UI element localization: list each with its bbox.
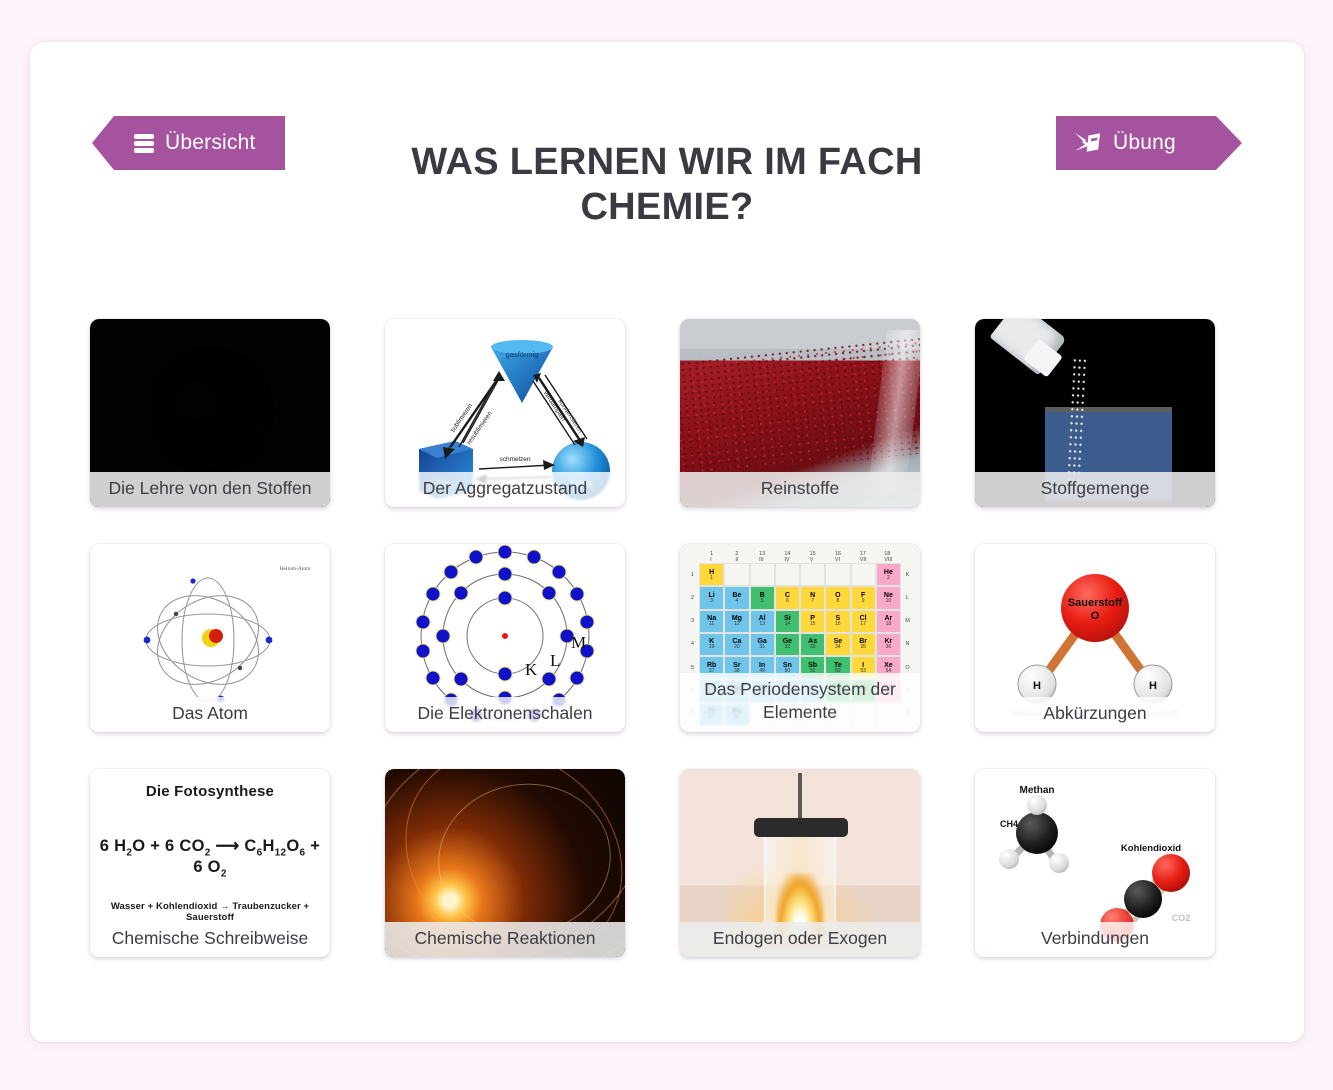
pse-shell-letter: K [901, 563, 914, 586]
pse-element-Ga: Ga31 [750, 633, 775, 656]
pse-corner [901, 550, 914, 563]
topic-grid: Die Lehre von den Stoffen [90, 319, 1244, 969]
pse-group-header: 1I [699, 550, 724, 563]
pse-element-Li: Li3 [699, 586, 724, 609]
pse-period-number: 1 [686, 563, 699, 586]
pse-empty-cell [775, 563, 800, 586]
page-header: Übersicht Übung WAS LERNEN WIR IM FACH C… [30, 42, 1304, 242]
topic-card-label: Das Periodensystem der Elemente [680, 673, 920, 732]
pse-element-P: P15 [800, 610, 825, 633]
oxygen-symbol-label: O [1091, 610, 1100, 622]
methane-name-label: Methan [1020, 785, 1055, 796]
topic-card-das-periodensystem-der-elemente[interactable]: 1I2II13III14IV15V16VI17VII18VIII1H1He2K2… [680, 544, 920, 732]
topic-card-verbindungen[interactable]: Methan CH4 Kohlendioxid [975, 769, 1215, 957]
topic-card-endogen-oder-exogen[interactable]: Endogen oder Exogen [680, 769, 920, 957]
pse-element-S: S16 [825, 610, 850, 633]
pse-group-header: 2II [724, 550, 749, 563]
topic-card-chemische-schreibweise[interactable]: Die Fotosynthese 6 H2O + 6 CO2 ⟶ C6H12O6… [90, 769, 330, 957]
topic-card-die-lehre-von-den-stoffen[interactable]: Die Lehre von den Stoffen [90, 319, 330, 507]
pse-element-Kr: Kr36 [876, 633, 901, 656]
pse-element-Ne: Ne10 [876, 586, 901, 609]
topic-card-label: Das Atom [90, 697, 330, 732]
topic-card-label: Stoffgemenge [975, 472, 1215, 507]
topic-card-label: Abkürzungen [975, 697, 1215, 732]
aggregate-label-gas: gasförmig [506, 350, 539, 359]
pse-element-Al: Al13 [750, 610, 775, 633]
topic-card-label: Der Aggregatzustand [385, 472, 625, 507]
co2-name-label: Kohlendioxid [1121, 843, 1181, 854]
pse-element-N: N7 [800, 586, 825, 609]
exercise-nav-label: Übung [1113, 131, 1176, 155]
pse-empty-cell [851, 563, 876, 586]
photosynthesis-title: Die Fotosynthese [99, 783, 321, 800]
hydrogen-symbol-right: H [1149, 680, 1157, 692]
pse-period-number: 4 [686, 633, 699, 656]
pse-element-O: O8 [825, 586, 850, 609]
topic-card-die-elektronenschalen[interactable]: K L M Die Elektronenschalen [385, 544, 625, 732]
pse-element-As: As33 [800, 633, 825, 656]
pse-element-H: H1 [699, 563, 724, 586]
methane-formula-label: CH4 [1000, 819, 1018, 829]
pse-element-Be: Be4 [724, 586, 749, 609]
pse-element-Mg: Mg12 [724, 610, 749, 633]
pse-shell-letter: M [901, 610, 914, 633]
pse-group-header: 16VI [825, 550, 850, 563]
topic-card-label: Endogen oder Exogen [680, 922, 920, 957]
topic-card-label: Chemische Reaktionen [385, 922, 625, 957]
shell-label-k: K [525, 660, 538, 679]
pse-group-header: 18VIII [876, 550, 901, 563]
pse-element-Se: Se34 [825, 633, 850, 656]
topic-card-der-aggregatzustand[interactable]: gasförmig fest flüssig sublimieren [385, 319, 625, 507]
topic-card-reinstoffe[interactable]: Reinstoffe [680, 319, 920, 507]
earth-globe [146, 346, 274, 474]
pse-element-Ca: Ca20 [724, 633, 749, 656]
pse-element-He: He2 [876, 563, 901, 586]
topic-card-das-atom[interactable]: Helium-Atom Das [90, 544, 330, 732]
overview-nav-button[interactable]: Übersicht [92, 116, 285, 170]
pse-empty-cell [800, 563, 825, 586]
pse-corner [686, 550, 699, 563]
pse-group-header: 17VII [851, 550, 876, 563]
pse-group-header: 15V [800, 550, 825, 563]
pse-element-Si: Si14 [775, 610, 800, 633]
metal-rod [798, 773, 802, 822]
pse-element-Ge: Ge32 [775, 633, 800, 656]
pse-element-Na: Na11 [699, 610, 724, 633]
shell-label-l: L [550, 651, 560, 670]
content-panel: Übersicht Übung WAS LERNEN WIR IM FACH C… [30, 42, 1304, 1042]
pse-group-header: 14IV [775, 550, 800, 563]
topic-card-label: Die Lehre von den Stoffen [90, 472, 330, 507]
topic-card-label: Chemische Schreibweise [90, 922, 330, 957]
pse-element-F: F9 [851, 586, 876, 609]
page-title: WAS LERNEN WIR IM FACH CHEMIE? [330, 140, 1004, 230]
pse-empty-cell [750, 563, 775, 586]
write-on-paper-icon [1074, 131, 1102, 155]
hydrogen-symbol-left: H [1033, 680, 1041, 692]
pse-empty-cell [724, 563, 749, 586]
aggregate-label-schmelzen: schmelzen [499, 456, 530, 463]
pse-element-B: B5 [750, 586, 775, 609]
pse-element-K: K19 [699, 633, 724, 656]
atom-caption: Helium-Atom [280, 566, 312, 572]
exercise-nav-button[interactable]: Übung [1056, 116, 1242, 170]
topic-card-chemische-reaktionen[interactable]: Chemische Reaktionen [385, 769, 625, 957]
pse-element-Ar: Ar18 [876, 610, 901, 633]
pse-element-C: C6 [775, 586, 800, 609]
pse-group-header: 13III [750, 550, 775, 563]
pse-period-number: 3 [686, 610, 699, 633]
pse-element-Cl: Cl17 [851, 610, 876, 633]
pse-empty-cell [825, 563, 850, 586]
list-icon [134, 134, 154, 153]
topic-card-stoffgemenge[interactable]: Stoffgemenge [975, 319, 1215, 507]
pse-shell-letter: L [901, 586, 914, 609]
topic-card-label: Die Elektronenschalen [385, 697, 625, 732]
cylinder-lid [754, 818, 848, 837]
photosynthesis-words: Wasser + Kohlendioxid → Traubenzucker + … [99, 901, 321, 923]
topic-card-abkuerzungen[interactable]: Sauerstoff O H H Wasserstoff Wasserstoff… [975, 544, 1215, 732]
pse-shell-letter: N [901, 633, 914, 656]
pse-element-Br: Br35 [851, 633, 876, 656]
oxygen-name-label: Sauerstoff [1068, 597, 1123, 609]
photosynthesis-equation: 6 H2O + 6 CO2 ⟶ C6H12O6 + 6 O2 [99, 836, 321, 880]
overview-nav-label: Übersicht [165, 131, 256, 155]
topic-card-label: Verbindungen [975, 922, 1215, 957]
pse-period-number: 2 [686, 586, 699, 609]
topic-card-label: Reinstoffe [680, 472, 920, 507]
shell-label-m: M [571, 633, 586, 652]
